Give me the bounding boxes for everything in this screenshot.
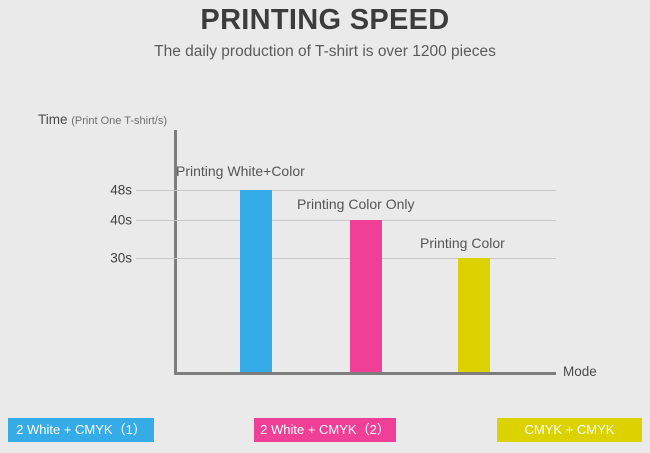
y-axis-label-text: Time <box>38 112 68 127</box>
bar[interactable] <box>240 190 272 372</box>
x-axis-line <box>174 372 556 375</box>
x-axis-label: Mode <box>563 364 597 379</box>
y-tick-label: 40s <box>104 213 132 228</box>
y-tick-label: 30s <box>104 251 132 266</box>
printing-speed-infographic: PRINTING SPEED The daily production of T… <box>0 0 650 453</box>
y-axis-label: Time (Print One T-shirt/s) <box>38 112 167 127</box>
chart-plot-area: Time (Print One T-shirt/s) Mode 48s40s30… <box>0 0 650 453</box>
y-axis-unit-text: (Print One T-shirt/s) <box>71 115 167 127</box>
y-tick-label: 48s <box>104 183 132 198</box>
legend: 2 White + CMYK（1）2 White + CMYK（2）CMYK +… <box>0 418 650 442</box>
bar-caption: Printing White+Color <box>176 163 305 179</box>
gridline <box>136 258 556 259</box>
bar-caption: Printing Color <box>420 235 505 251</box>
bar[interactable] <box>350 220 382 372</box>
gridline <box>136 220 556 221</box>
legend-item[interactable]: 2 White + CMYK（2） <box>254 418 396 442</box>
legend-item[interactable]: CMYK + CMYK <box>497 418 642 442</box>
gridline <box>136 190 556 191</box>
bar[interactable] <box>458 258 490 372</box>
legend-item[interactable]: 2 White + CMYK（1） <box>8 418 154 442</box>
bar-caption: Printing Color Only <box>297 196 415 212</box>
